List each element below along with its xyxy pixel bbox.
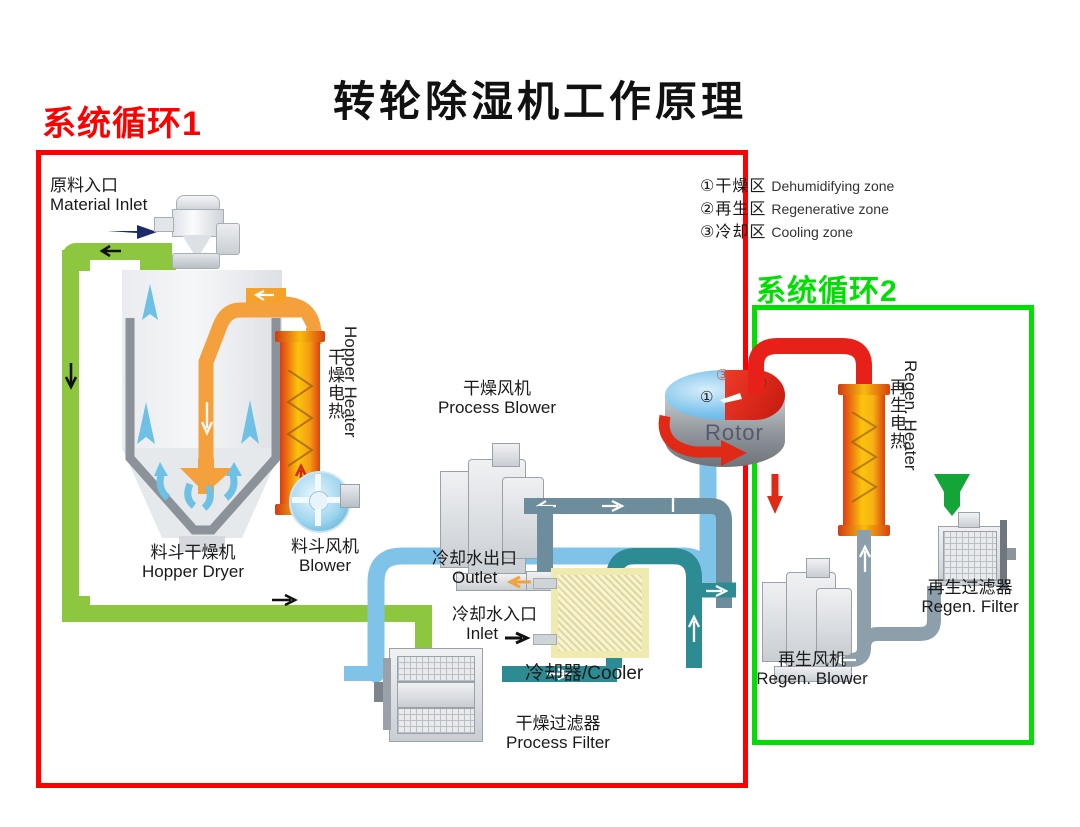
regen-blower-port bbox=[806, 558, 830, 578]
cooling-water-inlet-label: 冷却水入口 Inlet bbox=[452, 605, 537, 643]
regen-filter-grid bbox=[943, 531, 997, 581]
regen-heater-inlet-arrow-icon bbox=[858, 542, 872, 574]
diagram-canvas: 转轮除湿机工作原理 系统循环1 系统循环2 ①干燥区Dehumidifying … bbox=[0, 0, 1080, 827]
cooled-air-arrow-up-icon bbox=[687, 612, 701, 644]
rotor-divider-pointer-icon bbox=[720, 390, 744, 404]
hopper-blower-blades-icon bbox=[289, 471, 347, 529]
regen-rotor-outlet-arrow-icon bbox=[765, 470, 785, 518]
material-inlet-label: 原料入口 Material Inlet bbox=[50, 176, 147, 214]
hot-air-flow-arrow-icon bbox=[252, 289, 276, 302]
cooling-water-inlet-label-cn: 冷却水入口 bbox=[452, 605, 537, 624]
process-blower-label-en: Process Blower bbox=[412, 398, 582, 417]
hopper-airflow-arrows bbox=[128, 272, 284, 522]
return-air-arrow-right-icon bbox=[600, 499, 626, 513]
cooling-water-inlet-label-en: Inlet bbox=[466, 624, 537, 643]
legend-marker-3: ③ bbox=[700, 224, 715, 241]
rotor-zone-marker-3-text: ③ bbox=[716, 367, 729, 384]
process-filter-center bbox=[397, 682, 475, 708]
regen-filter-label-en: Regen. Filter bbox=[906, 597, 1034, 616]
cooler-label: 冷却器/Cooler bbox=[525, 664, 643, 683]
cooling-water-outlet-label: 冷却水出口 Outlet bbox=[432, 549, 517, 587]
legend-item-regenerative: ②再生区Regenerative zone bbox=[700, 199, 894, 220]
process-filter-label-cn: 干燥过滤器 bbox=[478, 714, 638, 733]
rotor-zone-marker-1-text: ① bbox=[700, 389, 713, 406]
regen-heater-label-cn-wrap: 再生电热 bbox=[884, 378, 909, 518]
material-pipe-corner-topleft bbox=[62, 243, 90, 271]
legend-item-cooling: ③冷却区Cooling zone bbox=[700, 222, 894, 243]
process-blower-label: 干燥风机 Process Blower bbox=[412, 379, 582, 417]
hopper-dryer-label-en: Hopper Dryer bbox=[128, 562, 258, 581]
hopper-dryer-label: 料斗干燥机 Hopper Dryer bbox=[128, 543, 258, 581]
legend-cn-3: 冷却区 bbox=[715, 224, 766, 241]
regen-heater-coil-icon bbox=[850, 412, 878, 508]
material-inlet-arrow-icon bbox=[107, 221, 159, 241]
rotor-zone-marker-3: ③ bbox=[716, 366, 729, 384]
material-pipe-left-vertical bbox=[62, 250, 79, 622]
regen-filter-label: 再生过滤器 Regen. Filter bbox=[906, 578, 1034, 616]
return-air-arrow-up-icon bbox=[666, 482, 680, 514]
process-blower-port bbox=[492, 443, 520, 467]
rotor-rotation-arrow-icon bbox=[655, 398, 765, 468]
cooler-outlet-port bbox=[533, 578, 557, 589]
hopper-heater-cap-top bbox=[275, 331, 325, 342]
regen-blower-label-en: Regen. Blower bbox=[738, 669, 886, 688]
legend-cn-2: 再生区 bbox=[715, 201, 766, 218]
material-inlet-label-en: Material Inlet bbox=[50, 195, 147, 214]
regen-blower-label-cn: 再生风机 bbox=[738, 650, 886, 669]
cooling-water-outlet-label-en: Outlet bbox=[452, 568, 517, 587]
legend-en-3: Cooling zone bbox=[771, 224, 853, 240]
regen-filter-downpipe-arrow-icon bbox=[877, 600, 891, 626]
process-filter-handle bbox=[374, 682, 383, 702]
loader-motor bbox=[216, 223, 240, 255]
legend-cn-1: 干燥区 bbox=[715, 178, 766, 195]
hopper-heater-label-cn: 干燥电热 bbox=[325, 348, 344, 420]
material-flow-arrow-bottom bbox=[270, 592, 300, 608]
cooling-water-outlet-label-cn: 冷却水出口 bbox=[432, 549, 517, 568]
loader-inlet-port bbox=[154, 217, 174, 232]
material-inlet-label-cn: 原料入口 bbox=[50, 176, 147, 195]
cooled-air-arrow-branch-icon bbox=[704, 584, 728, 598]
regen-filter-intake-arrow-icon bbox=[932, 472, 972, 520]
process-filter-label-en: Process Filter bbox=[478, 733, 638, 752]
process-blower-label-cn: 干燥风机 bbox=[412, 379, 582, 398]
material-pipe-corner-bottomleft bbox=[62, 596, 90, 622]
regen-filter-label-cn: 再生过滤器 bbox=[906, 578, 1034, 597]
regen-heater-cap-top bbox=[838, 384, 890, 395]
legend-item-dehumidifying: ①干燥区Dehumidifying zone bbox=[700, 176, 894, 197]
hopper-heater-coil-icon bbox=[286, 370, 314, 475]
regen-heater-label-cn: 再生电热 bbox=[887, 378, 906, 450]
process-filter-grid-top bbox=[397, 656, 475, 682]
legend-en-1: Dehumidifying zone bbox=[771, 178, 894, 194]
regen-filter-handle bbox=[1007, 548, 1016, 560]
cooler-label-text: 冷却器/Cooler bbox=[525, 663, 643, 684]
rotor-zone-marker-1: ① bbox=[700, 388, 713, 406]
material-flow-arrow-top bbox=[96, 244, 122, 258]
hopper-dryer-label-cn: 料斗干燥机 bbox=[128, 543, 258, 562]
legend-marker-1: ① bbox=[700, 178, 715, 195]
system-loop-1-label: 系统循环1 bbox=[42, 96, 202, 145]
cooler-fin-core bbox=[558, 575, 642, 651]
process-filter-label: 干燥过滤器 Process Filter bbox=[478, 714, 638, 752]
loader-base bbox=[172, 253, 220, 269]
material-flow-arrow-left bbox=[63, 362, 79, 390]
legend-en-2: Regenerative zone bbox=[771, 201, 889, 217]
regen-blower-label: 再生风机 Regen. Blower bbox=[738, 650, 886, 688]
legend-marker-2: ② bbox=[700, 201, 715, 218]
zone-legend: ①干燥区Dehumidifying zone ②再生区Regenerative … bbox=[700, 176, 894, 245]
dry-air-pipe-heater-link bbox=[344, 666, 376, 681]
cooler-unit bbox=[551, 568, 649, 658]
regen-blower-motor bbox=[816, 588, 852, 656]
process-filter-side-mount bbox=[383, 658, 391, 730]
system-loop-2-label: 系统循环2 bbox=[756, 266, 898, 310]
process-filter-grid-bottom bbox=[397, 708, 475, 734]
